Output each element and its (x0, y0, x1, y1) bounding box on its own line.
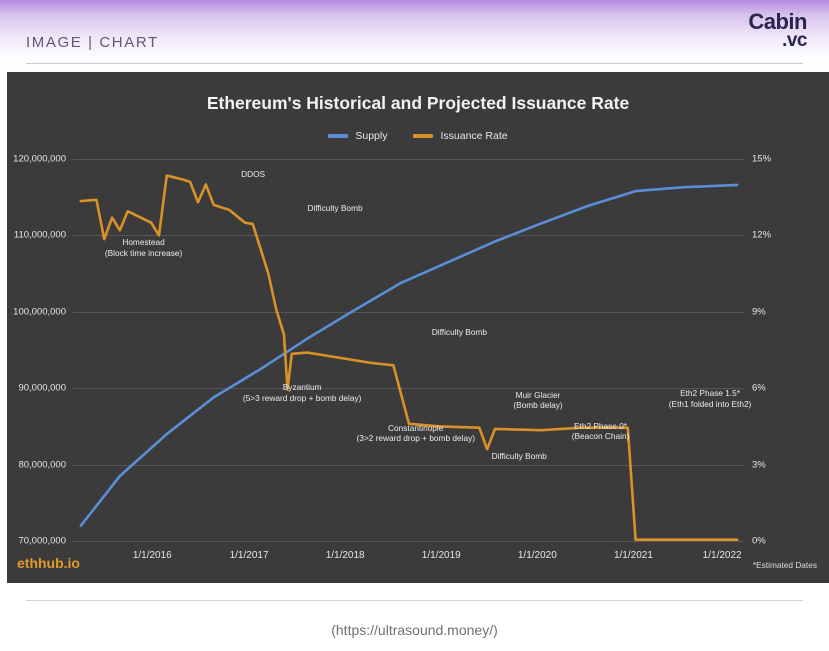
annotation-ddos: DDOS (241, 169, 265, 179)
legend-label-supply: Supply (355, 130, 387, 142)
x-axis-tick: 1/1/2022 (703, 550, 742, 561)
legend-item-supply[interactable]: Supply (328, 130, 387, 142)
y-axis-left-tick: 110,000,000 (14, 230, 66, 241)
x-axis-tick: 1/1/2017 (230, 550, 269, 561)
annotation-line: Muir Glacier (513, 390, 562, 400)
annotation-difficulty-bomb-1: Difficulty Bomb (307, 203, 362, 213)
annotation-muir-glacier: Muir Glacier(Bomb delay) (513, 390, 562, 411)
annotation-line: Homestead (105, 237, 182, 247)
supply-line (81, 185, 737, 526)
legend-swatch-issuance-rate (413, 134, 433, 138)
source-watermark: ethhub.io (17, 555, 80, 571)
annotation-homestead: Homestead(Block time increase) (105, 237, 182, 258)
x-axis-tick: 1/1/2018 (326, 550, 365, 561)
annotation-line: (Block time increase) (105, 248, 182, 258)
chart-legend: Supply Issuance Rate (7, 130, 829, 142)
annotation-line: Difficulty Bomb (307, 203, 362, 213)
annotation-line: DDOS (241, 169, 265, 179)
y-axis-right-tick: 0% (752, 536, 766, 547)
legend-swatch-supply (328, 134, 348, 138)
y-axis-right-tick: 9% (752, 306, 766, 317)
annotation-byzantium: Byzantium(5>3 reward drop + bomb delay) (243, 382, 362, 403)
annotation-eth2-phase-15: Eth2 Phase 1.5*(Eth1 folded into Eth2) (669, 388, 752, 409)
x-axis-tick: 1/1/2019 (422, 550, 461, 561)
y-axis-left-tick: 70,000,000 (18, 536, 66, 547)
y-axis-left-tick: 80,000,000 (18, 459, 66, 470)
x-axis-tick: 1/1/2021 (614, 550, 653, 561)
chart-series-svg (73, 159, 745, 541)
page-header: IMAGE | CHART Cabin .vc (0, 0, 829, 72)
annotation-eth2-phase-0: Eth2 Phase 0*(Beacon Chain) (572, 421, 630, 442)
legend-item-issuance-rate[interactable]: Issuance Rate (413, 130, 507, 142)
y-axis-right-tick: 12% (752, 230, 771, 241)
annotation-line: (Eth1 folded into Eth2) (669, 399, 752, 409)
annotation-constantinople: Constantinople(3>2 reward drop + bomb de… (356, 423, 475, 444)
annotation-difficulty-bomb-2: Difficulty Bomb (432, 327, 487, 337)
annotation-line: (Beacon Chain) (572, 431, 630, 441)
annotation-difficulty-bomb-3: Difficulty Bomb (492, 451, 547, 461)
y-axis-right-tick: 6% (752, 383, 766, 394)
issuance-rate-line (81, 176, 737, 540)
annotation-line: Eth2 Phase 0* (572, 421, 630, 431)
x-axis-tick: 1/1/2020 (518, 550, 557, 561)
logo-primary-text: Cabin (748, 12, 807, 32)
chart-title: Ethereum's Historical and Projected Issu… (7, 93, 829, 114)
logo-secondary-text: .vc (748, 32, 807, 49)
annotation-line: (Bomb delay) (513, 400, 562, 410)
annotation-line: (3>2 reward drop + bomb delay) (356, 433, 475, 443)
footer-caption: (https://ultrasound.money/) (0, 622, 829, 638)
legend-label-issuance-rate: Issuance Rate (440, 130, 507, 142)
annotation-line: Eth2 Phase 1.5* (669, 388, 752, 398)
annotation-line: Byzantium (243, 382, 362, 392)
footer-divider (26, 600, 803, 601)
annotation-line: Difficulty Bomb (432, 327, 487, 337)
x-axis-tick: 1/1/2016 (133, 550, 172, 561)
header-breadcrumb: IMAGE | CHART (26, 34, 159, 51)
chart-panel: Ethereum's Historical and Projected Issu… (7, 72, 829, 583)
y-axis-right-tick: 3% (752, 459, 766, 470)
y-axis-left-tick: 100,000,000 (13, 306, 66, 317)
y-axis-left-tick: 90,000,000 (18, 383, 66, 394)
plot-area: 70,000,00080,000,00090,000,000100,000,00… (73, 159, 745, 541)
estimated-dates-note: *Estimated Dates (753, 560, 817, 570)
y-axis-left-tick: 120,000,000 (13, 154, 66, 165)
annotation-line: Constantinople (356, 423, 475, 433)
annotation-line: (5>3 reward drop + bomb delay) (243, 393, 362, 403)
cabin-vc-logo: Cabin .vc (748, 12, 807, 50)
y-axis-right-tick: 15% (752, 154, 771, 165)
annotation-line: Difficulty Bomb (492, 451, 547, 461)
header-divider (26, 63, 803, 64)
gridline (73, 541, 745, 542)
